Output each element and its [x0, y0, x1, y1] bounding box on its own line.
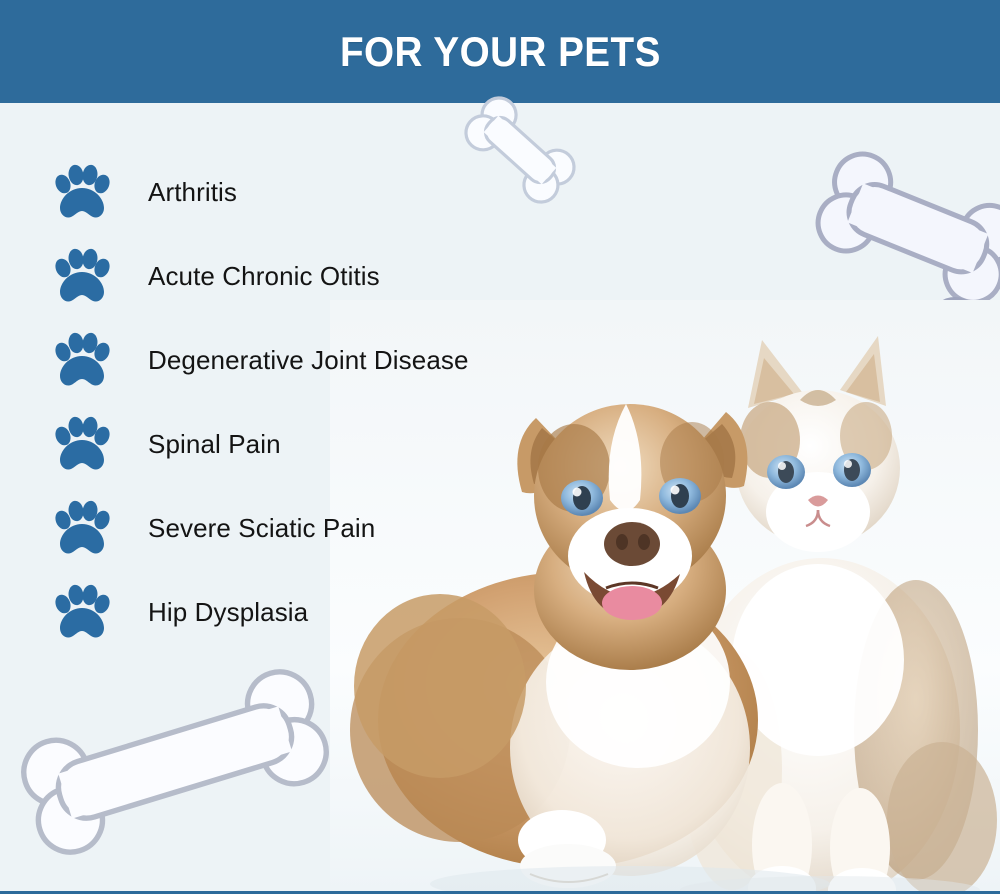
list-item: Hip Dysplasia [52, 570, 612, 654]
list-item: Degenerative Joint Disease [52, 318, 612, 402]
list-item: Arthritis [52, 150, 612, 234]
bone-bottom-left-icon [10, 655, 340, 870]
condition-label: Acute Chronic Otitis [148, 261, 380, 292]
page-title: FOR YOUR PETS [340, 28, 661, 76]
condition-label: Spinal Pain [148, 429, 281, 460]
condition-label: Degenerative Joint Disease [148, 345, 469, 376]
condition-label: Arthritis [148, 177, 237, 208]
list-item: Severe Sciatic Pain [52, 486, 612, 570]
condition-label: Hip Dysplasia [148, 597, 308, 628]
list-item: Spinal Pain [52, 402, 612, 486]
paw-print-icon [52, 584, 112, 640]
paw-print-icon [52, 500, 112, 556]
paw-print-icon [52, 416, 112, 472]
pet-conditions-poster: FOR YOUR PETS [0, 0, 1000, 894]
bone-top-right-icon [805, 150, 1000, 300]
paw-print-icon [52, 332, 112, 388]
paw-print-icon [52, 164, 112, 220]
list-item: Acute Chronic Otitis [52, 234, 612, 318]
paw-print-icon [52, 248, 112, 304]
condition-list: Arthritis Acute Chronic Otitis [52, 150, 612, 654]
header-banner: FOR YOUR PETS [0, 0, 1000, 103]
condition-label: Severe Sciatic Pain [148, 513, 375, 544]
